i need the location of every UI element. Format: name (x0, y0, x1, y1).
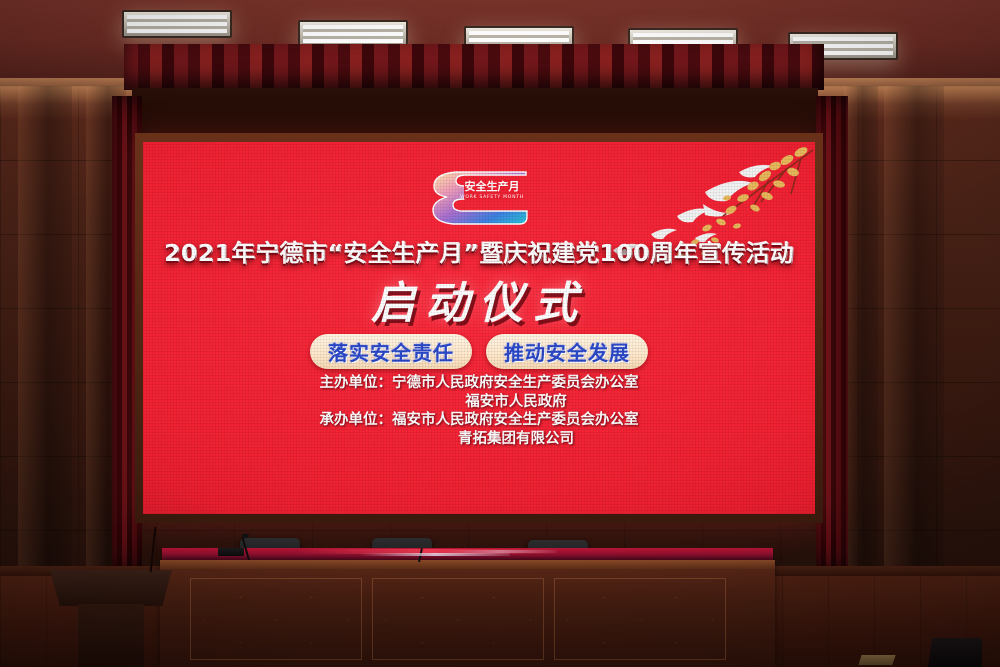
wall-pilaster-right (884, 86, 944, 586)
panel-diamond-motif (385, 597, 531, 642)
ceiling-light-1 (122, 10, 232, 38)
organizer-line-2: 福安市人民政府 (143, 393, 815, 412)
stage-valance (124, 44, 824, 90)
table-front-panel-1 (190, 578, 362, 660)
table-front-panel-3 (554, 578, 726, 660)
speaker-podium-body (78, 604, 144, 667)
conference-hall-scene: 安全生产月 WORK SAFETY MONTH 2021年宁德市“安全生产月”暨… (0, 0, 1000, 667)
organizer-line-4: 青拓集团有限公司 (143, 430, 815, 449)
floor-paper (858, 655, 895, 665)
table-object-left (218, 548, 244, 556)
table-cable (360, 553, 510, 556)
slogan-pill-1: 落实安全责任 (310, 334, 472, 369)
panel-diamond-motif (567, 597, 713, 642)
slogan-pill-2: 推动安全发展 (486, 334, 648, 369)
speaker-podium-top (50, 570, 172, 606)
led-screen: 安全生产月 WORK SAFETY MONTH 2021年宁德市“安全生产月”暨… (143, 142, 815, 514)
work-safety-month-logo: 安全生产月 WORK SAFETY MONTH (420, 164, 538, 226)
organizer-block: 主办单位：宁德市人民政府安全生产委员会办公室 福安市人民政府 承办单位：福安市人… (143, 374, 815, 448)
table-front-panel-2 (372, 578, 544, 660)
floor-monitor-speaker (928, 638, 982, 667)
logo-english-text: WORK SAFETY MONTH (460, 194, 524, 200)
wall-pilaster-left (18, 86, 72, 586)
head-table-top-edge (160, 560, 775, 569)
slogan-row: 落实安全责任 推动安全发展 (143, 334, 815, 369)
slogan-text-1: 落实安全责任 (328, 341, 454, 365)
event-headline: 2021年宁德市“安全生产月”暨庆祝建党100周年宣传活动 (143, 234, 815, 268)
wall-pilaster-right-2 (844, 86, 878, 586)
table-microphone-left-head (242, 534, 249, 538)
organizer-line-1: 主办单位：宁德市人民政府安全生产委员会办公室 (143, 374, 815, 393)
ceremony-main-title: 启动仪式 (143, 267, 815, 331)
led-screen-frame: 安全生产月 WORK SAFETY MONTH 2021年宁德市“安全生产月”暨… (135, 133, 823, 523)
table-cable-2 (446, 550, 556, 553)
slogan-text-2: 推动安全发展 (504, 341, 630, 365)
panel-diamond-motif (203, 597, 349, 642)
logo-chinese-text: 安全生产月 (465, 179, 520, 193)
organizer-line-3: 承办单位：福安市人民政府安全生产委员会办公室 (143, 411, 815, 430)
